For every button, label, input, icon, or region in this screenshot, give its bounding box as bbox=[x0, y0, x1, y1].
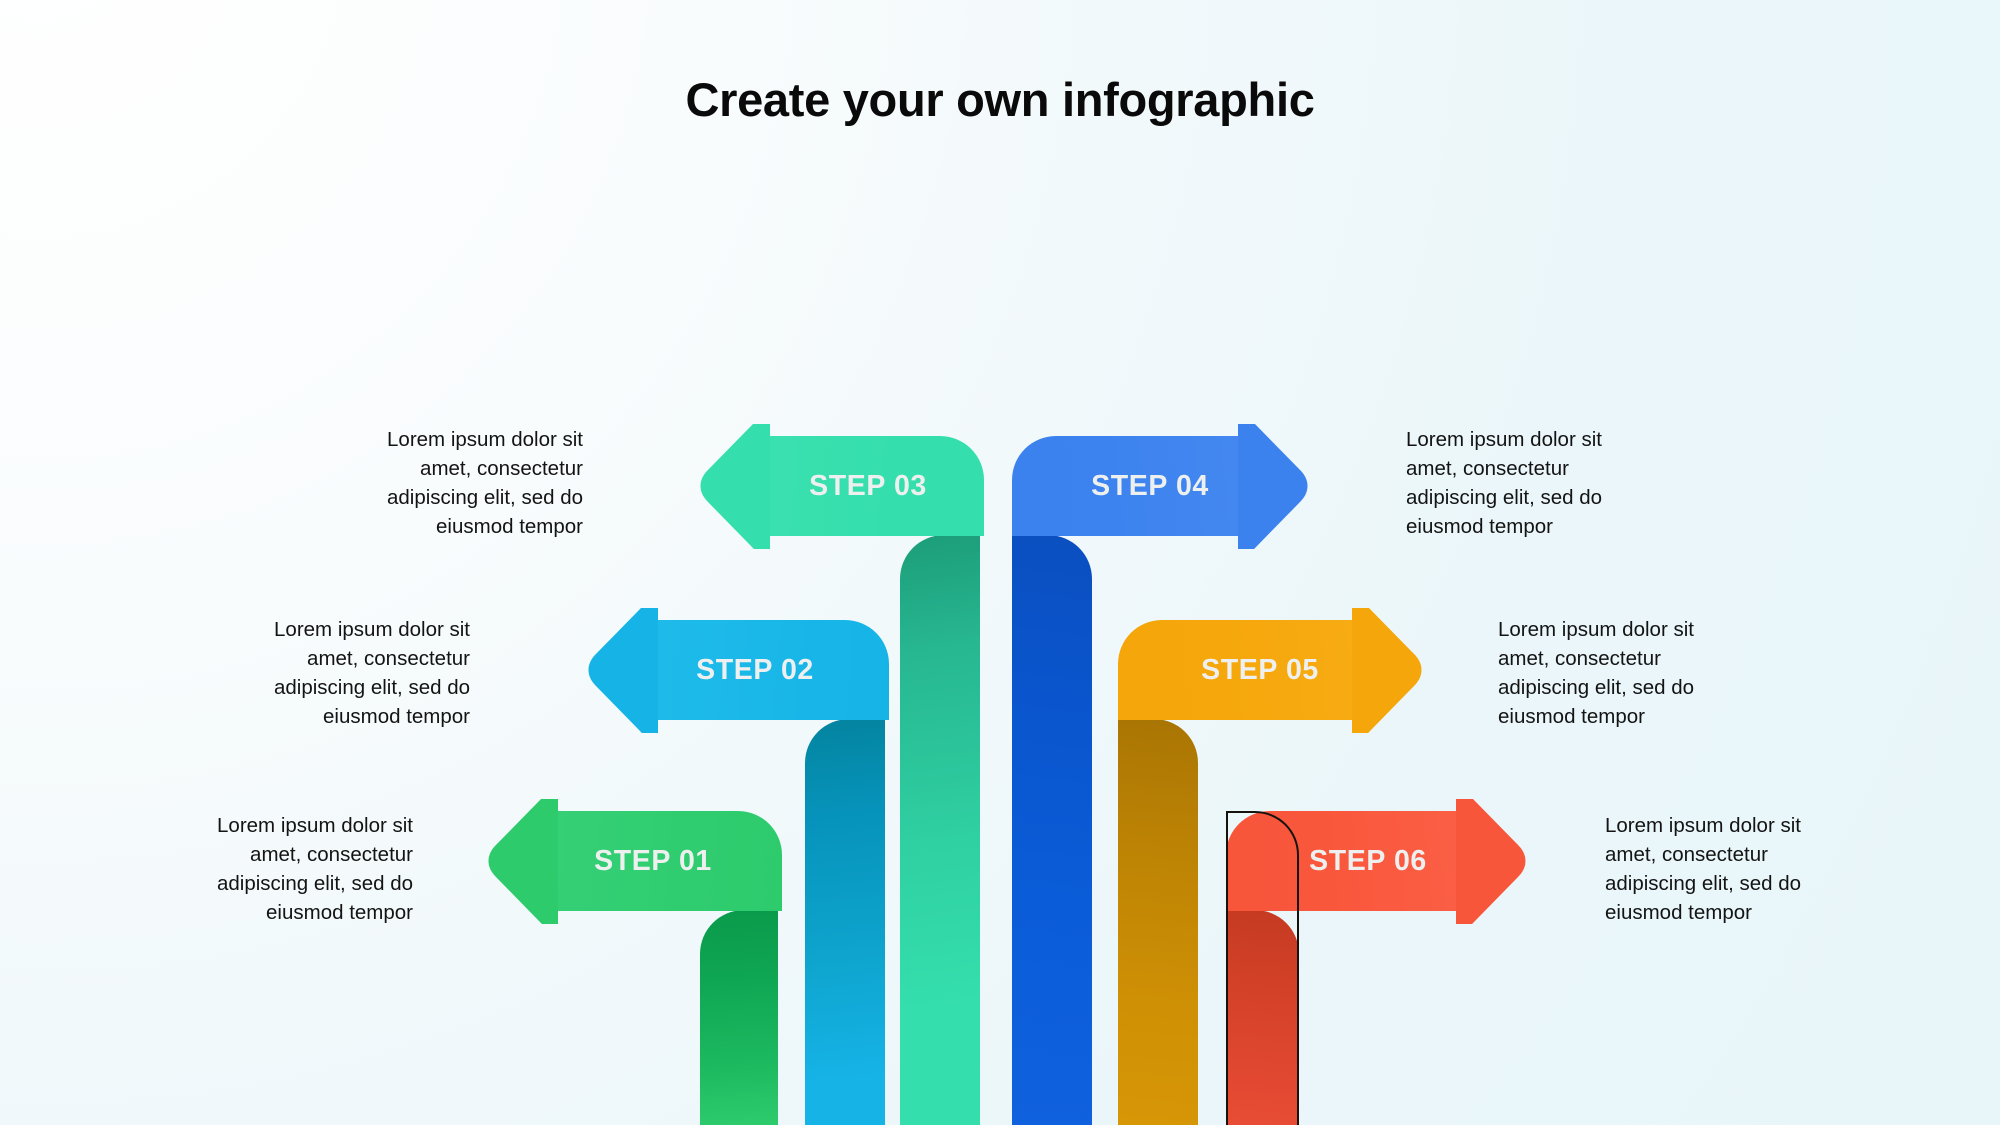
step-02-stem bbox=[805, 719, 885, 1125]
step-04-description: Lorem ipsum dolor sit amet, consectetur … bbox=[1406, 425, 1641, 541]
step-03-description: Lorem ipsum dolor sit amet, consectetur … bbox=[348, 425, 583, 541]
step-01-label: STEP 01 bbox=[563, 811, 743, 911]
step-06-label: STEP 06 bbox=[1278, 811, 1458, 911]
step-01-arrowhead-left-icon bbox=[480, 799, 558, 924]
step-03-stem bbox=[900, 535, 980, 1125]
step-02-arrowhead-left-icon bbox=[580, 608, 658, 733]
step-05-description: Lorem ipsum dolor sit amet, consectetur … bbox=[1498, 615, 1733, 731]
step-04-label: STEP 04 bbox=[1060, 436, 1240, 536]
step-03-label: STEP 03 bbox=[778, 436, 958, 536]
step-05-stem bbox=[1118, 719, 1198, 1125]
step-02-description: Lorem ipsum dolor sit amet, consectetur … bbox=[235, 615, 470, 731]
step-05-label: STEP 05 bbox=[1170, 620, 1350, 720]
step-03-arrowhead-left-icon bbox=[692, 424, 770, 549]
step-06-description: Lorem ipsum dolor sit amet, consectetur … bbox=[1605, 811, 1840, 927]
step-02-label: STEP 02 bbox=[665, 620, 845, 720]
step-06-arrowhead-right-icon bbox=[1456, 799, 1534, 924]
step-01-stem bbox=[700, 910, 778, 1125]
infographic-slide: Create your own infographic STEP 03 Lore… bbox=[0, 0, 2000, 1125]
step-04-arrowhead-right-icon bbox=[1238, 424, 1316, 549]
step-04-stem bbox=[1012, 535, 1092, 1125]
step-05-arrowhead-right-icon bbox=[1352, 608, 1430, 733]
step-01-description: Lorem ipsum dolor sit amet, consectetur … bbox=[178, 811, 413, 927]
step-06-stem bbox=[1226, 910, 1299, 1125]
page-title: Create your own infographic bbox=[0, 72, 2000, 127]
